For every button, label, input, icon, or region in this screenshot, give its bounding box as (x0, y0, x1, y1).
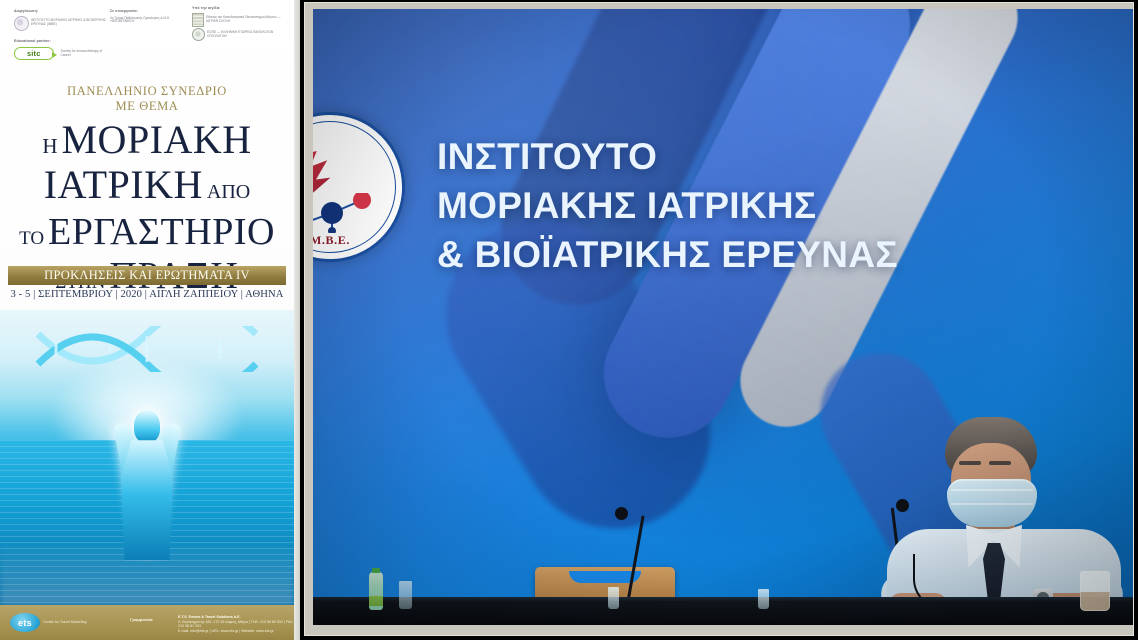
cooperation-block: Σε συνεργασία: 4ο Τμήμα Παθολογικής Ογκο… (110, 9, 188, 24)
water-glass-mid (758, 589, 769, 609)
title-l1-article: Η (42, 134, 57, 158)
poster-title-line-1: Η ΜΟΡΙΑΚΗ (0, 121, 294, 159)
stage-scene: Μ.Β.Ε. ΙΝΣΤΙΤΟΥΤΟ ΜΟΡΙΑΚΗΣ ΙΑΤΡΙΚΗΣ & ΒΙ… (313, 9, 1133, 625)
figure-torso (119, 440, 175, 560)
educational-partner-block: Educational partner: sitc Society for Im… (14, 39, 110, 60)
speaker-left-eyebrow (959, 461, 981, 465)
water-glass-center (608, 587, 619, 609)
cooperation-label: Σε συνεργασία: (110, 9, 188, 14)
slide-title-line-3: & ΒΙΟΪΑΤΡΙΚΗΣ ΕΡΕΥΝΑΣ (437, 231, 1037, 280)
poster-artwork (0, 310, 294, 605)
bottle-cap (372, 568, 380, 573)
secretariat-details: E.T.S. Events & Travel Solutions A.E. Λ.… (178, 615, 294, 633)
ets-logo-icon: ets (10, 613, 40, 632)
face-mask-icon (947, 479, 1037, 527)
poster-subtitle-bar: ΠΡΟΚΛΗΣΕΙΣ ΚΑΙ ΕΡΩΤΗΜΑΤΑ IV (8, 266, 286, 285)
slide-title-line-2: ΜΟΡΙΑΚΗΣ ΙΑΤΡΙΚΗΣ (437, 182, 1037, 231)
poster-title-block: ΠΑΝΕΛΛΗΝΙΟ ΣΥΝΕΔΡΙΟ ΜΕ ΘΕΜΑ Η ΜΟΡΙΑΚΗ ΙΑ… (0, 84, 294, 295)
water-glass-left (399, 581, 412, 609)
poster-title-line-2: ΙΑΤΡΙΚΗ ΑΠΟ (0, 166, 294, 204)
human-figure (119, 410, 175, 560)
university-seal-icon (192, 13, 204, 27)
speaker-right-eyebrow (989, 461, 1011, 465)
title-l3-main: ΕΡΓΑΣΤΗΡΙΟ (48, 211, 275, 253)
poster-sponsor-band: Διοργάνωση: ΙΝΣΤΙΤΟΥΤΟ ΜΟΡΙΑΚΗΣ ΙΑΤΡΙΚΗΣ… (0, 0, 294, 72)
poster-footer: ets Center for Travel Marketing Γραμματε… (0, 605, 294, 640)
water-bottle (369, 572, 383, 610)
water-glass-right (1080, 571, 1110, 611)
organizer-block: Διοργάνωση: ΙΝΣΤΙΤΟΥΤΟ ΜΟΡΙΑΚΗΣ ΙΑΤΡΙΚΗΣ… (14, 9, 106, 31)
panel-table (313, 601, 1133, 625)
title-l2-preposition: ΑΠΟ (207, 181, 250, 203)
title-l1-main: ΜΟΡΙΑΚΗ (61, 117, 251, 162)
auspices-item-1: Εθνικός και Καποδιστριακό Πανεπιστήμιο Α… (206, 16, 288, 24)
auspices-block: Υπό την αιγίδα: Εθνικός και Καποδιστριακ… (192, 6, 288, 41)
organizer-label: Διοργάνωση: (14, 9, 106, 14)
imbe-logo-icon (14, 16, 29, 31)
dna-helix-icon (34, 326, 260, 372)
emblem-text: Μ.Β.Ε. (313, 233, 350, 248)
auspices-label: Υπό την αιγίδα: (192, 6, 288, 11)
title-l3-article: ΤΟ (19, 228, 44, 249)
figure-head (134, 410, 160, 443)
secretariat-name: E.T.S. Events & Travel Solutions A.E. (178, 615, 241, 619)
poster-subtitle-text: ΠΡΟΚΛΗΣΕΙΣ ΚΑΙ ΕΡΩΤΗΜΑΤΑ IV (44, 268, 250, 283)
sitc-subtitle: Society for Immunotherapy of Cancer (61, 50, 111, 58)
cooperation-name: 4ο Τμήμα Παθολογικής Ογκολογίας Α.Ν.Θ. «… (110, 17, 188, 25)
title-l2-main: ΙΑΤΡΙΚΗ (44, 162, 203, 207)
slide-title: ΙΝΣΤΙΤΟΥΤΟ ΜΟΡΙΑΚΗΣ ΙΑΤΡΙΚΗΣ & ΒΙΟΪΑΤΡΙΚ… (437, 133, 1037, 279)
microphone-head-left (615, 507, 628, 520)
conference-video-panel[interactable]: Μ.Β.Ε. ΙΝΣΤΙΤΟΥΤΟ ΜΟΡΙΑΚΗΣ ΙΑΤΡΙΚΗΣ & ΒΙ… (300, 0, 1138, 640)
slide-title-line-1: ΙΝΣΤΙΤΟΥΤΟ (437, 133, 1037, 182)
eope-seal-icon (192, 28, 205, 41)
projection-screen-frame: Μ.Β.Ε. ΙΝΣΤΙΤΟΥΤΟ ΜΟΡΙΑΚΗΣ ΙΑΤΡΙΚΗΣ & ΒΙ… (304, 2, 1134, 636)
poster-kicker-line-1: ΠΑΝΕΛΛΗΝΙΟ ΣΥΝΕΔΡΙΟ (0, 84, 294, 99)
emblem-molecule-icon (313, 193, 382, 233)
secretariat-label: Γραμματεία: (130, 617, 153, 622)
video-player-stage: Διοργάνωση: ΙΝΣΤΙΤΟΥΤΟ ΜΟΡΙΑΚΗΣ ΙΑΤΡΙΚΗΣ… (0, 0, 1138, 640)
secretariat-email: E-mail: info@ets.gr | URL: www.ets.gr | … (178, 629, 294, 634)
poster-kicker-line-2: ΜΕ ΘΕΜΑ (0, 99, 294, 114)
secretariat-address: Λ. Βουλιαγμένης 182, 172 35 Δάφνη, Αθήνα… (178, 620, 294, 629)
ets-subtitle: Center for Travel Marketing (43, 620, 87, 624)
conference-poster-panel: Διοργάνωση: ΙΝΣΤΙΤΟΥΤΟ ΜΟΡΙΑΚΗΣ ΙΑΤΡΙΚΗΣ… (0, 0, 300, 640)
sitc-logo-icon: sitc (14, 47, 54, 60)
poster-title-line-3: ΤΟ ΕΡΓΑΣΤΗΡΙΟ (0, 214, 294, 250)
bottle-label (369, 596, 383, 606)
poster-date-venue: 3 - 5 | ΣΕΠΤΕΜΒΡΙΟΥ | 2020 | ΑΙΓΛΗ ΖΑΠΠΕ… (0, 289, 294, 300)
educational-partner-label: Educational partner: (14, 39, 110, 44)
organizer-name: ΙΝΣΤΙΤΟΥΤΟ ΜΟΡΙΑΚΗΣ ΙΑΤΡΙΚΗΣ & ΒΙΟΪΑΤΡΙΚ… (31, 19, 106, 27)
auspices-item-2: ΕΟΠΕ — ΕΛΛΗΝΙΚΗ ΕΤΑΙΡΕΙΑ ΠΑΘΟΛΟΓΩΝ ΟΓΚΟΛ… (207, 31, 288, 39)
poster-canvas: Διοργάνωση: ΙΝΣΤΙΤΟΥΤΟ ΜΟΡΙΑΚΗΣ ΙΑΤΡΙΚΗΣ… (0, 0, 294, 640)
